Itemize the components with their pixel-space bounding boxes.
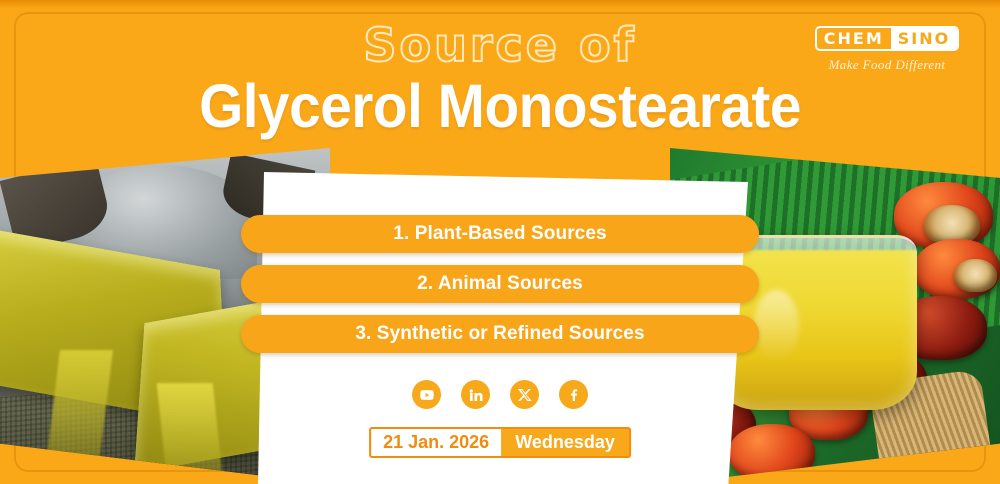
social-links [0, 380, 1000, 409]
date-bar: 21 Jan. 2026 Wednesday [369, 427, 631, 458]
logo-text-chem: CHEM [817, 28, 891, 49]
x-twitter-icon[interactable] [510, 380, 539, 409]
page-title: Glycerol Monostearate [35, 76, 965, 137]
youtube-icon[interactable] [412, 380, 441, 409]
facebook-icon[interactable] [559, 380, 588, 409]
linkedin-icon[interactable] [461, 380, 490, 409]
palm-fruit [729, 424, 815, 481]
date-value: 21 Jan. 2026 [371, 429, 501, 456]
list-item[interactable]: 3. Synthetic or Refined Sources [241, 315, 759, 353]
source-list: 1. Plant-Based Sources 2. Animal Sources… [0, 215, 1000, 365]
logo-mark: CHEM SINO [815, 26, 959, 51]
list-item[interactable]: 1. Plant-Based Sources [241, 215, 759, 253]
list-item[interactable]: 2. Animal Sources [241, 265, 759, 303]
banner-header: Source of Glycerol Monostearate [0, 0, 1000, 150]
logo-text-sino: SINO [891, 28, 957, 49]
brand-logo[interactable]: CHEM SINO Make Food Different [802, 26, 972, 73]
promo-banner: Source of Glycerol Monostearate CHEM SIN… [0, 0, 1000, 484]
weekday-value: Wednesday [501, 429, 629, 456]
logo-tagline: Make Food Different [802, 57, 972, 73]
